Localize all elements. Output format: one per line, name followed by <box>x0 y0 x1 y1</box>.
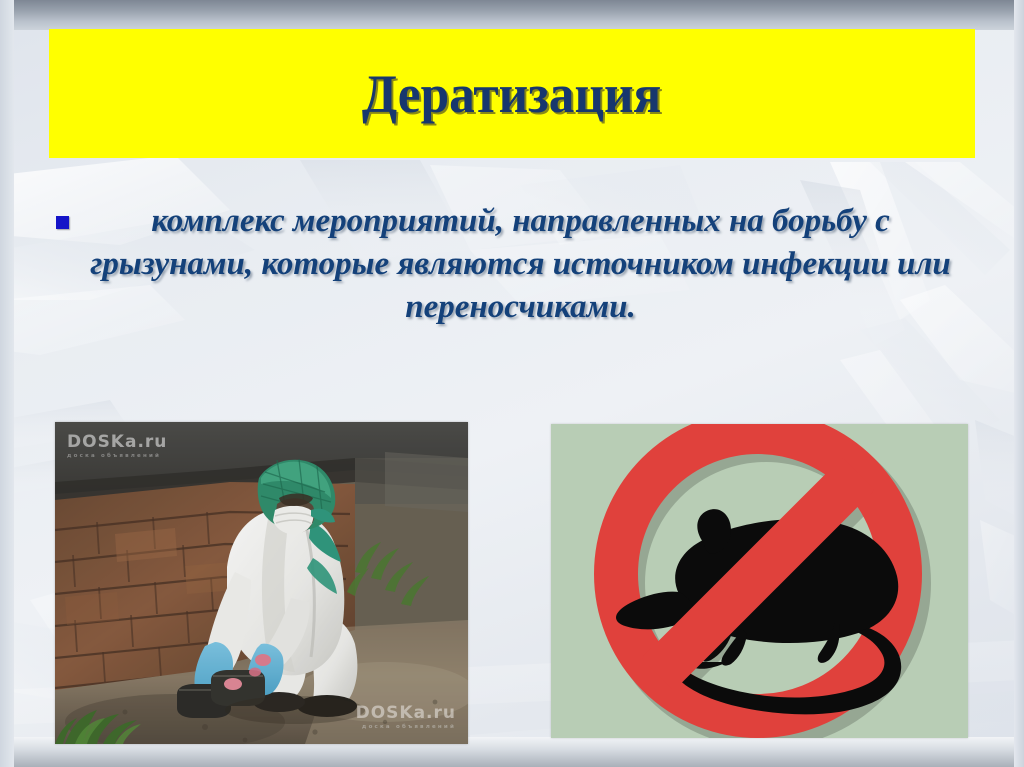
top-gradient-band <box>0 0 1024 30</box>
left-edge-strip <box>0 0 14 767</box>
bullet-item-text: комплекс мероприятий, направленных на бо… <box>83 200 976 329</box>
presentation-slide: Дератизация комплекс мероприятий, направ… <box>0 0 1024 767</box>
watermark-sub-text: доска объявлений <box>67 454 167 460</box>
watermark-main-text: DOSKa.ru <box>356 705 456 722</box>
watermark-top-left: DOSKa.ru доска объявлений <box>67 434 167 460</box>
watermark-sub-text: доска объявлений <box>356 725 456 731</box>
right-edge-strip <box>1014 0 1024 767</box>
watermark-main-text: DOSKa.ru <box>67 434 167 451</box>
title-banner: Дератизация <box>49 29 975 158</box>
watermark-bottom-right: DOSKa.ru доска объявлений <box>356 705 456 731</box>
page-title: Дератизация <box>362 67 661 121</box>
bullet-list: комплекс мероприятий, направленных на бо… <box>56 200 976 329</box>
pest-control-worker-photo: DOSKa.ru доска объявлений DOSKa.ru доска… <box>55 422 468 744</box>
no-rats-prohibition-sign <box>551 424 968 738</box>
blue-square-bullet-icon <box>56 216 69 229</box>
